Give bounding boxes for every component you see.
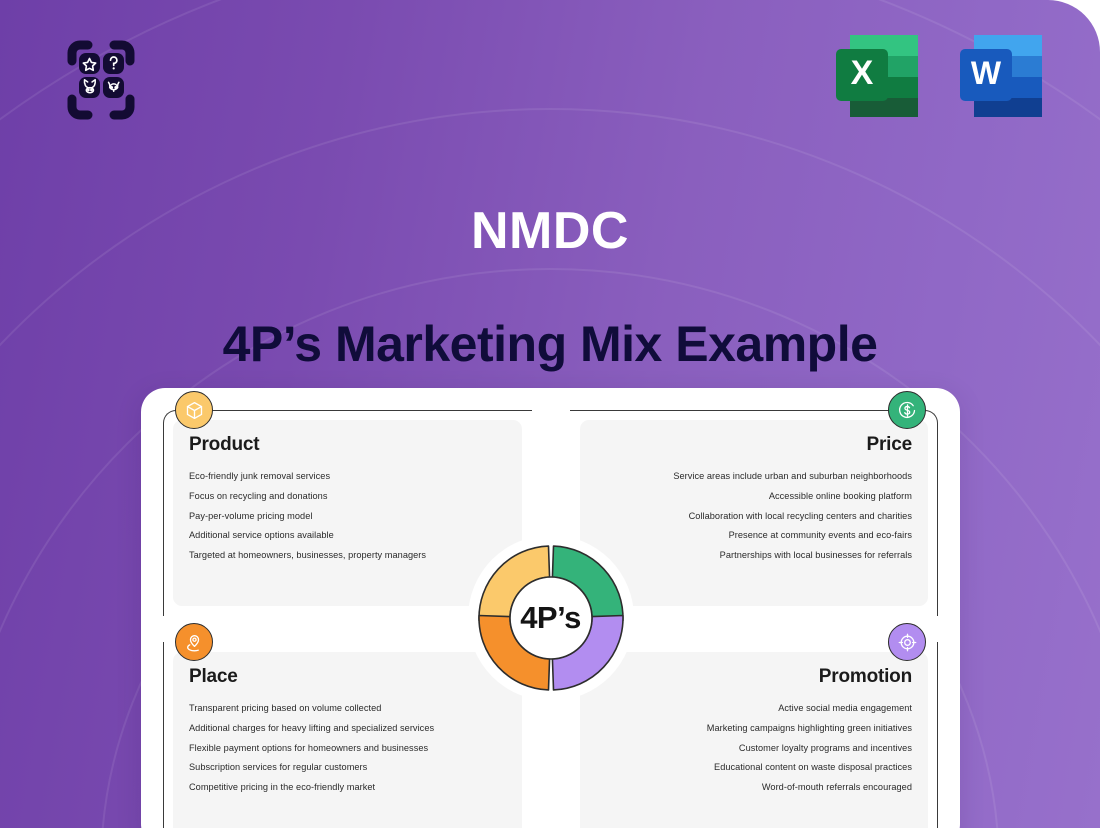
list-item: Presence at community events and eco-fai… [729,528,912,542]
list-item: Partnerships with local businesses for r… [720,548,912,562]
list-item: Educational content on waste disposal pr… [714,760,912,774]
location-pin-icon [175,623,213,661]
list-item: Transparent pricing based on volume coll… [189,701,506,715]
list-item: Flexible payment options for homeowners … [189,741,506,755]
bullet-list: Service areas include urban and suburban… [596,469,913,562]
office-app-icons: X W [828,27,1050,125]
quadrant-title: Price [867,434,912,456]
target-crosshair-icon [888,623,926,661]
list-item: Eco-friendly junk removal services [189,469,506,483]
list-item: Competitive pricing in the eco-friendly … [189,780,506,794]
quadrant-title: Promotion [819,666,912,688]
list-item: Subscription services for regular custom… [189,760,506,774]
quadrant-product[interactable]: Product Eco-friendly junk removal servic… [163,410,532,616]
bullet-list: Transparent pricing based on volume coll… [189,701,506,794]
dollar-coin-icon [888,391,926,429]
list-item: Additional service options available [189,528,506,542]
quadrant-title: Product [189,434,259,456]
slide-canvas: X W NMDC 4P’s Marketing Mix Example [0,0,1100,828]
quadrant-body: Place Transparent pricing based on volum… [173,652,522,828]
list-item: Service areas include urban and suburban… [673,469,912,483]
quadrant-title: Place [189,666,238,688]
list-item: Pay-per-volume pricing model [189,509,506,523]
list-item: Accessible online booking platform [769,489,912,503]
list-item: Word-of-mouth referrals encouraged [762,780,912,794]
svg-text:X: X [851,54,874,92]
scan-frame-pets-icon [48,27,154,133]
quadrant-grid: Product Eco-friendly junk removal servic… [141,388,960,828]
list-item: Active social media engagement [778,701,912,715]
quadrant-place[interactable]: Place Transparent pricing based on volum… [163,642,532,828]
bullet-list: Eco-friendly junk removal services Focus… [189,469,506,562]
marketing-mix-card: Product Eco-friendly junk removal servic… [141,388,960,828]
page-title: 4P’s Marketing Mix Example [0,313,1100,376]
word-icon[interactable]: W [952,27,1050,125]
excel-icon[interactable]: X [828,27,926,125]
bullet-list: Active social media engagement Marketing… [596,701,913,794]
quadrant-body: Product Eco-friendly junk removal servic… [173,420,522,606]
list-item: Customer loyalty programs and incentives [739,741,912,755]
quadrant-price[interactable]: Price Service areas include urban and su… [570,410,939,616]
brand-name: NMDC [0,205,1100,257]
list-item: Marketing campaigns highlighting green i… [707,721,912,735]
list-item: Targeted at homeowners, businesses, prop… [189,548,506,562]
quadrant-promotion[interactable]: Promotion Active social media engagement… [570,642,939,828]
list-item: Additional charges for heavy lifting and… [189,721,506,735]
quadrant-body: Promotion Active social media engagement… [580,652,929,828]
svg-text:W: W [971,55,1002,91]
package-box-icon [175,391,213,429]
list-item: Collaboration with local recycling cente… [689,509,912,523]
list-item: Focus on recycling and donations [189,489,506,503]
quadrant-body: Price Service areas include urban and su… [580,420,929,606]
